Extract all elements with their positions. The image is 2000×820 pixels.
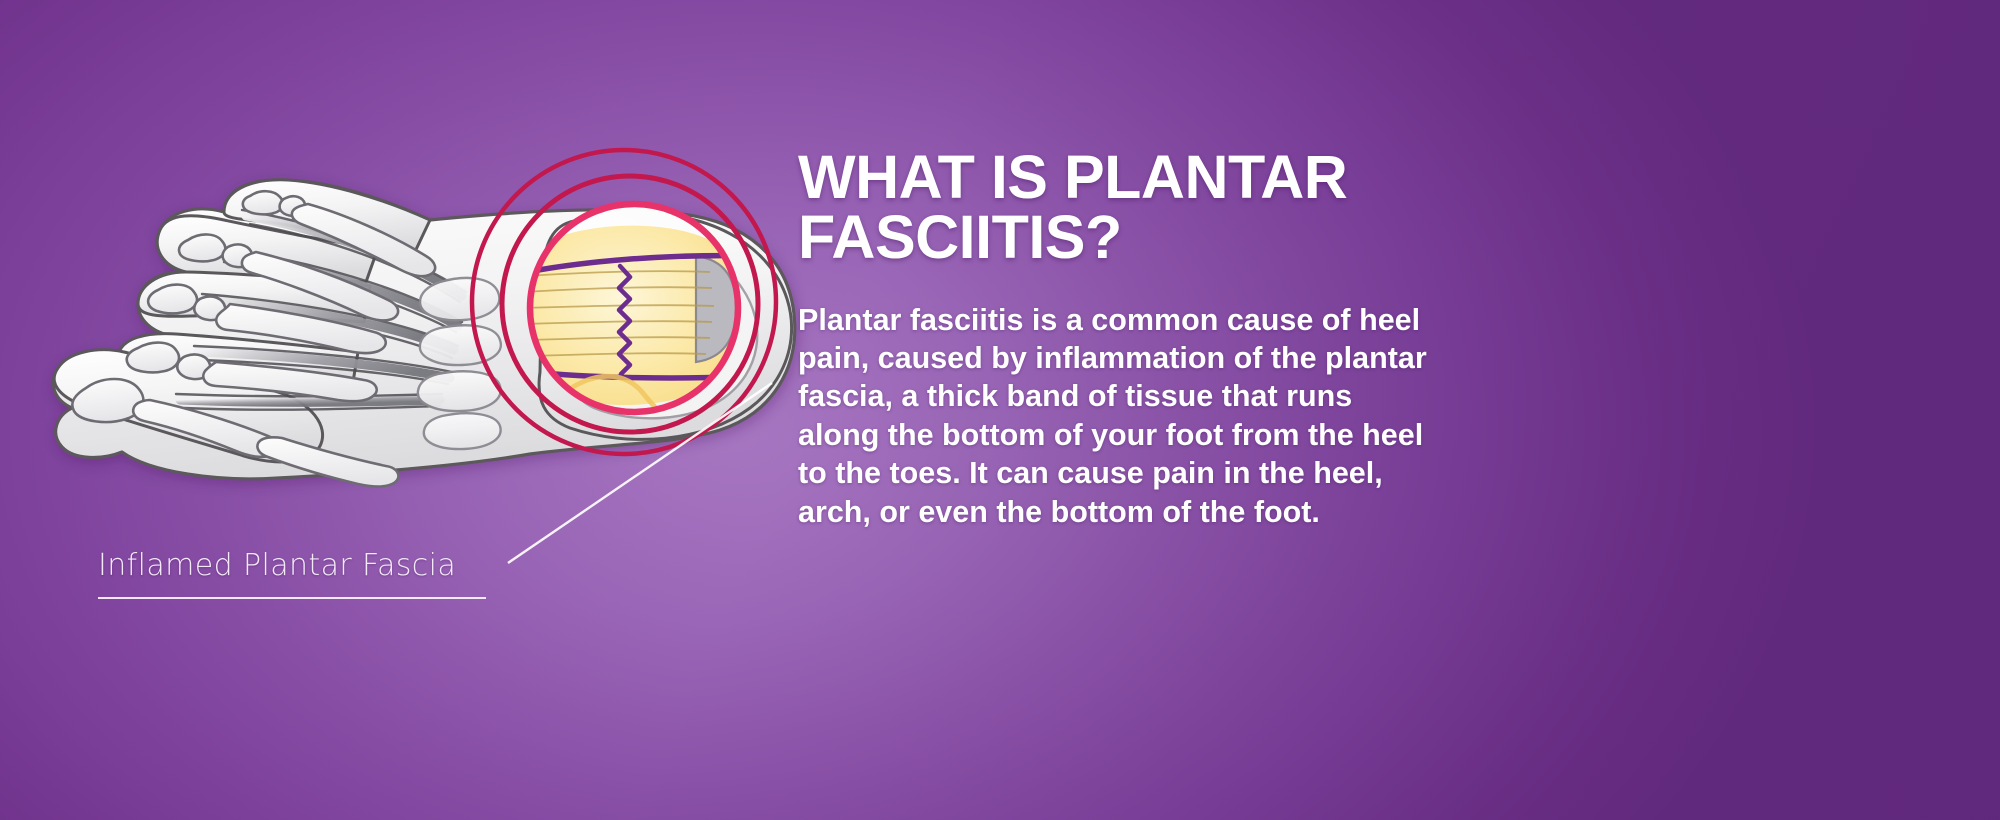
body-line-5: to the toes. It can cause pain in the he… bbox=[798, 454, 1470, 492]
title-line-1: WHAT IS PLANTAR bbox=[798, 148, 1488, 208]
body-line-6: arch, or even the bottom of the foot. bbox=[798, 493, 1470, 531]
caption-block: Inflamed Plantar Fascia bbox=[98, 548, 518, 599]
body-line-4: along the bottom of your foot from the h… bbox=[798, 416, 1470, 454]
body-line-1: Plantar fasciitis is a common cause of h… bbox=[798, 301, 1470, 339]
caption-underline bbox=[98, 597, 486, 599]
foot-illustration bbox=[10, 100, 860, 530]
body-paragraph: Plantar fasciitis is a common cause of h… bbox=[798, 301, 1470, 532]
banner-canvas: Inflamed Plantar Fascia WHAT IS PLANTAR … bbox=[0, 0, 2000, 820]
text-column: WHAT IS PLANTAR FASCIITIS? Plantar fasci… bbox=[798, 148, 1488, 531]
caption-label: Inflamed Plantar Fascia bbox=[98, 548, 518, 583]
body-line-2: pain, caused by inflammation of the plan… bbox=[798, 339, 1470, 377]
body-line-3: fascia, a thick band of tissue that runs bbox=[798, 377, 1470, 415]
page-title: WHAT IS PLANTAR FASCIITIS? bbox=[798, 148, 1488, 268]
title-line-2: FASCIITIS? bbox=[798, 208, 1488, 268]
foot-anatomy-svg bbox=[10, 100, 860, 530]
